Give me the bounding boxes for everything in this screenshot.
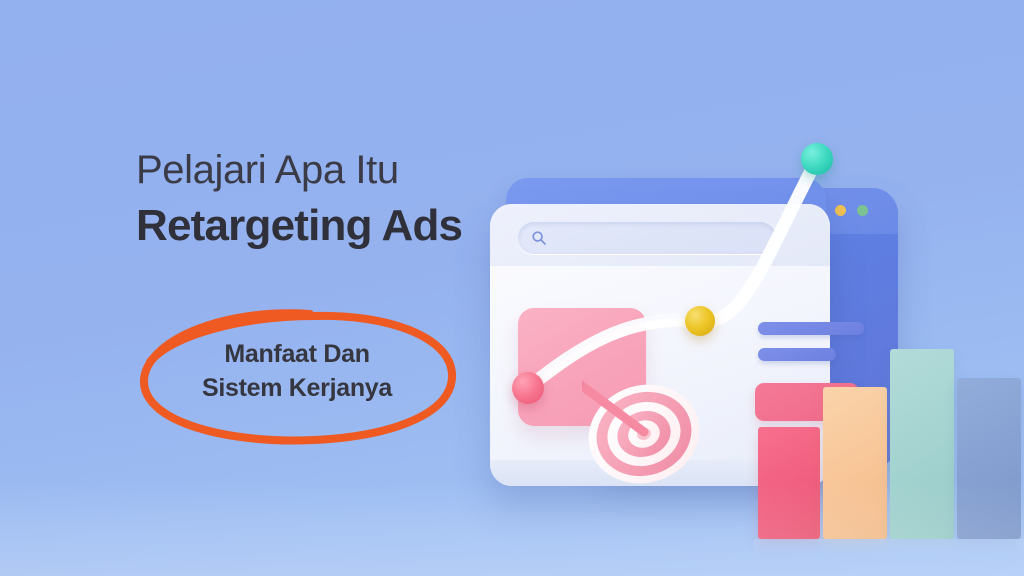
data-point-yellow	[685, 306, 715, 336]
banner: Pelajari Apa Itu Retargeting Ads Manfaat…	[0, 0, 1024, 576]
subtitle-line-2: Sistem Kerjanya	[172, 372, 422, 406]
data-point-pink	[512, 372, 544, 404]
data-point-teal	[801, 143, 833, 175]
subtitle-group: Manfaat Dan Sistem Kerjanya	[128, 298, 468, 448]
subtitle-text: Manfaat Dan Sistem Kerjanya	[172, 338, 422, 406]
subtitle-line-1: Manfaat Dan	[172, 338, 422, 372]
illustration	[470, 100, 1024, 576]
trend-line-chart	[470, 100, 1024, 576]
